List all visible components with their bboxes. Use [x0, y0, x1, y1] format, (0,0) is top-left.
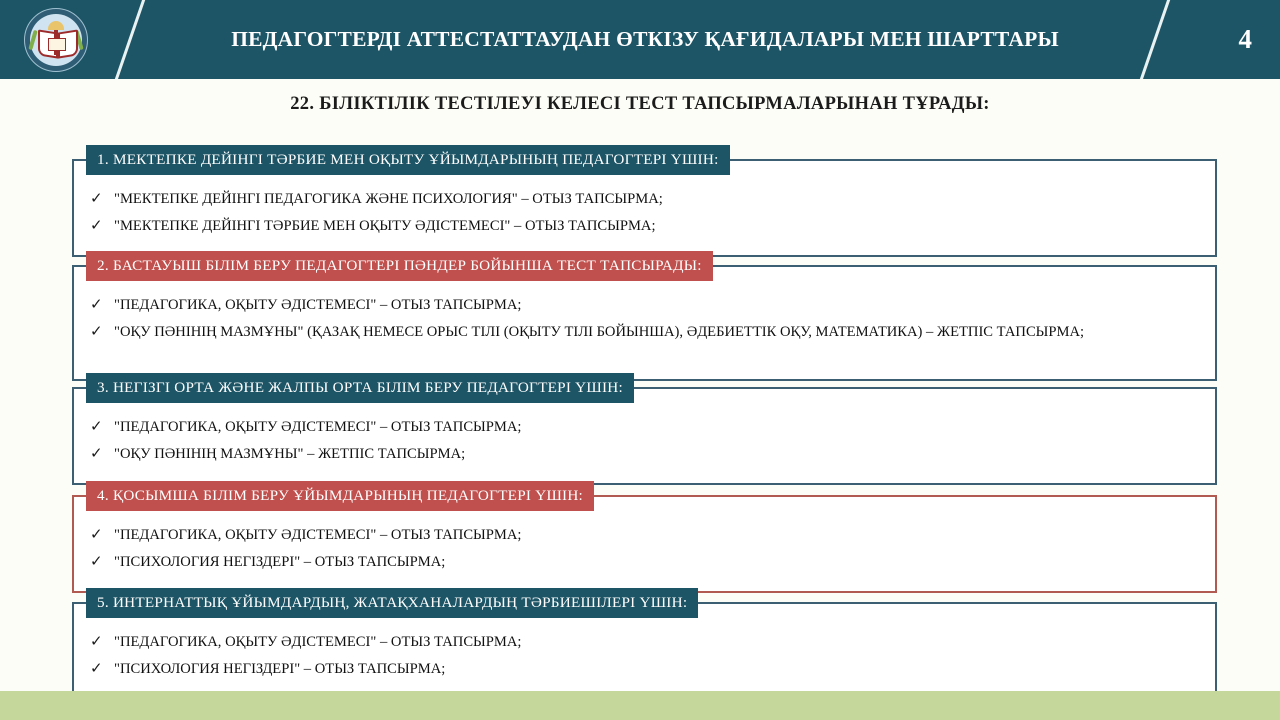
slide-title: 22. БІЛІКТІЛІК ТЕСТІЛЕУІ КЕЛЕСІ ТЕСТ ТАП…: [0, 94, 1280, 115]
list-item-text: "ПСИХОЛОГИЯ НЕГІЗДЕРІ" – ОТЫЗ ТАПСЫРМА;: [114, 552, 1190, 573]
list-item-text: "ОҚУ ПӘНІНІҢ МАЗМҰНЫ" (ҚАЗАҚ НЕМЕСЕ ОРЫС…: [114, 322, 1188, 343]
list-item-text: "ПЕДАГОГИКА, ОҚЫТУ ӘДІСТЕМЕСІ" – ОТЫЗ ТА…: [114, 632, 1190, 653]
section-body-3: ✓ "ПЕДАГОГИКА, ОҚЫТУ ӘДІСТЕМЕСІ" – ОТЫЗ …: [90, 417, 1190, 471]
banner-title: ПЕДАГОГТЕРДІ АТТЕСТАТТАУДАН ӨТКІЗУ ҚАҒИД…: [170, 0, 1120, 79]
list-item: ✓ "МЕКТЕПКЕ ДЕЙІНГІ ПЕДАГОГИКА ЖӘНЕ ПСИХ…: [90, 189, 1190, 210]
section-body-5: ✓ "ПЕДАГОГИКА, ОҚЫТУ ӘДІСТЕМЕСІ" – ОТЫЗ …: [90, 632, 1190, 686]
section-body-4: ✓ "ПЕДАГОГИКА, ОҚЫТУ ӘДІСТЕМЕСІ" – ОТЫЗ …: [90, 525, 1190, 579]
list-item: ✓ "МЕКТЕПКЕ ДЕЙІНГІ ТӘРБИЕ МЕН ОҚЫТУ ӘДІ…: [90, 216, 1190, 237]
check-icon: ✓: [90, 417, 114, 438]
list-item-text: "ОҚУ ПӘНІНІҢ МАЗМҰНЫ" – ЖЕТПІС ТАПСЫРМА;: [114, 444, 1190, 465]
section-header-2: 2. БАСТАУЫШ БІЛІМ БЕРУ ПЕДАГОГТЕРІ ПӘНДЕ…: [86, 251, 713, 281]
list-item-text: "ПЕДАГОГИКА, ОҚЫТУ ӘДІСТЕМЕСІ" – ОТЫЗ ТА…: [114, 525, 1190, 546]
check-icon: ✓: [90, 322, 114, 343]
list-item: ✓ "ПЕДАГОГИКА, ОҚЫТУ ӘДІСТЕМЕСІ" – ОТЫЗ …: [90, 295, 1188, 316]
check-icon: ✓: [90, 659, 114, 680]
list-item-text: "МЕКТЕПКЕ ДЕЙІНГІ ПЕДАГОГИКА ЖӘНЕ ПСИХОЛ…: [114, 189, 1190, 210]
emblem-crest: [48, 21, 64, 30]
slide-header-banner: ПЕДАГОГТЕРДІ АТТЕСТАТТАУДАН ӨТКІЗУ ҚАҒИД…: [0, 0, 1280, 79]
list-item: ✓ "ПСИХОЛОГИЯ НЕГІЗДЕРІ" – ОТЫЗ ТАПСЫРМА…: [90, 659, 1190, 680]
section-header-5: 5. ИНТЕРНАТТЫҚ ҰЙЫМДАРДЫҢ, ЖАТАҚХАНАЛАРД…: [86, 588, 698, 618]
check-icon: ✓: [90, 189, 114, 210]
slide-page-number: 4: [1212, 0, 1252, 79]
list-item: ✓ "ОҚУ ПӘНІНІҢ МАЗМҰНЫ" (ҚАЗАҚ НЕМЕСЕ ОР…: [90, 322, 1188, 343]
list-item: ✓ "ПЕДАГОГИКА, ОҚЫТУ ӘДІСТЕМЕСІ" – ОТЫЗ …: [90, 525, 1190, 546]
banner-diagonal-line-left: [110, 0, 149, 79]
check-icon: ✓: [90, 632, 114, 653]
check-icon: ✓: [90, 216, 114, 237]
section-header-3: 3. НЕГІЗГІ ОРТА ЖӘНЕ ЖАЛПЫ ОРТА БІЛІМ БЕ…: [86, 373, 634, 403]
section-body-2: ✓ "ПЕДАГОГИКА, ОҚЫТУ ӘДІСТЕМЕСІ" – ОТЫЗ …: [90, 295, 1188, 349]
list-item-text: "ПЕДАГОГИКА, ОҚЫТУ ӘДІСТЕМЕСІ" – ОТЫЗ ТА…: [114, 417, 1190, 438]
check-icon: ✓: [90, 525, 114, 546]
slide-footer-bar: [0, 691, 1280, 720]
emblem-plaque: [48, 38, 66, 51]
education-ministry-emblem-icon: [24, 8, 88, 72]
list-item-text: "МЕКТЕПКЕ ДЕЙІНГІ ТӘРБИЕ МЕН ОҚЫТУ ӘДІСТ…: [114, 216, 1190, 237]
check-icon: ✓: [90, 295, 114, 316]
list-item-text: "ПСИХОЛОГИЯ НЕГІЗДЕРІ" – ОТЫЗ ТАПСЫРМА;: [114, 659, 1190, 680]
check-icon: ✓: [90, 552, 114, 573]
section-body-1: ✓ "МЕКТЕПКЕ ДЕЙІНГІ ПЕДАГОГИКА ЖӘНЕ ПСИХ…: [90, 189, 1190, 243]
banner-diagonal-line-right: [1135, 0, 1174, 79]
section-header-1: 1. МЕКТЕПКЕ ДЕЙІНГІ ТӘРБИЕ МЕН ОҚЫТУ ҰЙЫ…: [86, 145, 730, 175]
list-item: ✓ "ОҚУ ПӘНІНІҢ МАЗМҰНЫ" – ЖЕТПІС ТАПСЫРМ…: [90, 444, 1190, 465]
list-item: ✓ "ПСИХОЛОГИЯ НЕГІЗДЕРІ" – ОТЫЗ ТАПСЫРМА…: [90, 552, 1190, 573]
section-header-4: 4. ҚОСЫМША БІЛІМ БЕРУ ҰЙЫМДАРЫНЫҢ ПЕДАГО…: [86, 481, 594, 511]
list-item: ✓ "ПЕДАГОГИКА, ОҚЫТУ ӘДІСТЕМЕСІ" – ОТЫЗ …: [90, 632, 1190, 653]
list-item-text: "ПЕДАГОГИКА, ОҚЫТУ ӘДІСТЕМЕСІ" – ОТЫЗ ТА…: [114, 295, 1188, 316]
list-item: ✓ "ПЕДАГОГИКА, ОҚЫТУ ӘДІСТЕМЕСІ" – ОТЫЗ …: [90, 417, 1190, 438]
check-icon: ✓: [90, 444, 114, 465]
